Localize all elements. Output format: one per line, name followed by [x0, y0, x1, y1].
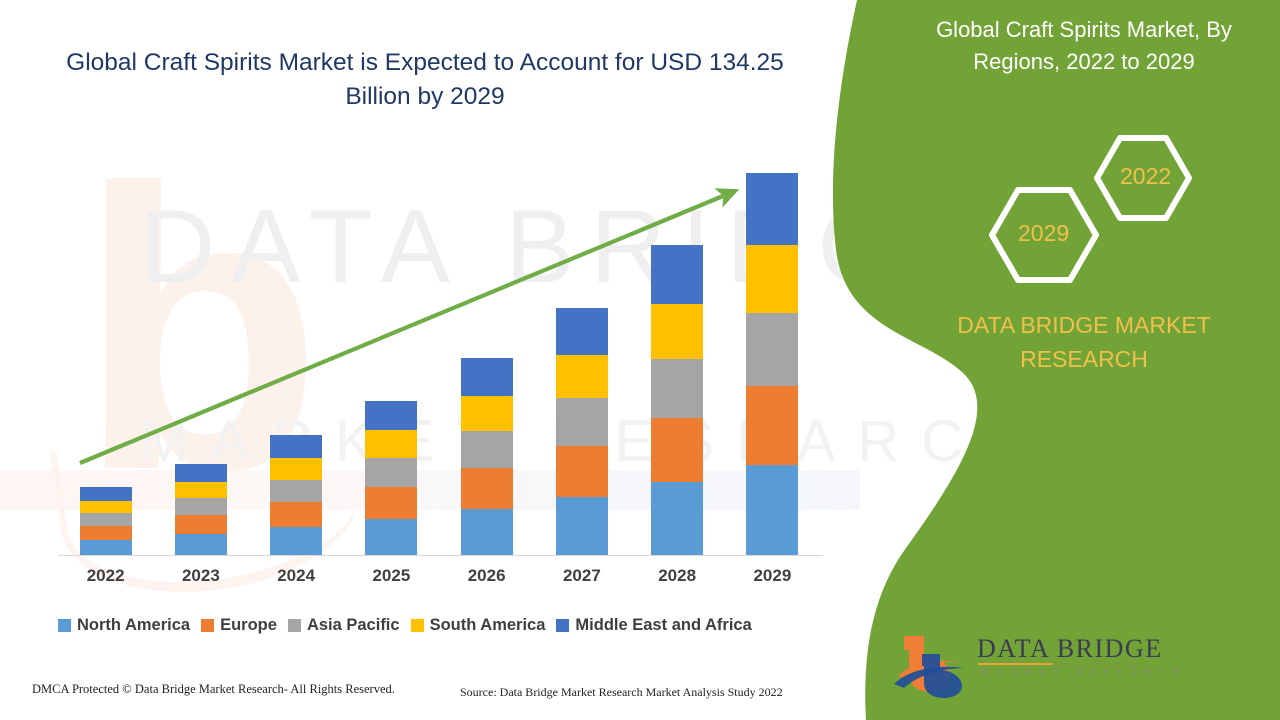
x-axis-tick-label: 2029: [724, 566, 820, 586]
bar-segment: [461, 431, 513, 469]
legend-swatch-icon: [58, 619, 71, 632]
bar-segment: [556, 308, 608, 355]
bar-segment: [365, 487, 417, 519]
bar-segment: [651, 304, 703, 359]
bar-segment: [270, 435, 322, 458]
bar-segment: [175, 464, 227, 481]
bar-segment: [270, 502, 322, 527]
bar-segment: [270, 527, 322, 556]
x-axis-tick-label: 2026: [439, 566, 535, 586]
hexagon-outline-icons: [970, 130, 1220, 295]
legend-swatch-icon: [288, 619, 301, 632]
bar-segment: [80, 501, 132, 513]
x-axis-tick-label: 2022: [58, 566, 154, 586]
bar-segment: [80, 487, 132, 500]
bar-segment: [270, 480, 322, 503]
bar-segment: [175, 515, 227, 534]
bar-segment: [556, 446, 608, 497]
x-axis-tick-label: 2023: [153, 566, 249, 586]
bar-segment: [80, 526, 132, 540]
bar-segment: [746, 465, 798, 556]
bar-segment: [461, 509, 513, 556]
bar-column: [80, 487, 132, 556]
bar-segment: [80, 513, 132, 526]
source-note: Source: Data Bridge Market Research Mark…: [460, 685, 783, 700]
bar-segment: [461, 396, 513, 431]
bar-segment: [461, 468, 513, 509]
legend-label: Asia Pacific: [307, 616, 400, 635]
legend-swatch-icon: [201, 619, 214, 632]
legend-swatch-icon: [411, 619, 424, 632]
dmca-notice: DMCA Protected © Data Bridge Market Rese…: [32, 682, 395, 697]
chart-legend: North AmericaEuropeAsia PacificSouth Ame…: [58, 616, 828, 635]
x-axis-tick-label: 2025: [343, 566, 439, 586]
legend-label: North America: [77, 616, 190, 635]
bar-segment: [365, 519, 417, 556]
legend-item[interactable]: Europe: [201, 616, 277, 635]
bar-column: [461, 358, 513, 556]
company-logo: DATA BRIDGE MARKET RESEARCH: [892, 630, 1152, 700]
legend-item[interactable]: Asia Pacific: [288, 616, 400, 635]
x-axis-line: [58, 555, 823, 556]
infographic-root: b DATA BRIDGE MARKET RESEARCH Global Cra…: [0, 0, 1280, 720]
chart-plot-area: [58, 150, 820, 556]
logo-company-name: DATA BRIDGE: [977, 634, 1163, 664]
bar-segment: [365, 458, 417, 487]
bar-segment: [746, 313, 798, 386]
bar-segment: [365, 401, 417, 430]
brand-name: DATA BRIDGE MARKET RESEARCH: [894, 308, 1274, 376]
legend-item[interactable]: North America: [58, 616, 190, 635]
footer: DMCA Protected © Data Bridge Market Rese…: [0, 682, 900, 712]
bar-column: [175, 464, 227, 556]
bar-column: [365, 401, 417, 556]
bar-segment: [556, 497, 608, 556]
bar-segment: [651, 418, 703, 482]
bar-segment: [746, 173, 798, 245]
bar-segment: [556, 355, 608, 399]
right-panel-title: Global Craft Spirits Market, By Regions,…: [894, 14, 1274, 78]
bar-segment: [651, 359, 703, 418]
legend-label: Europe: [220, 616, 277, 635]
bar-segment: [175, 534, 227, 556]
hexagon-badges: 2022 2029: [970, 130, 1220, 295]
logo-tagline: MARKET RESEARCH: [980, 667, 1187, 678]
legend-item[interactable]: Middle East and Africa: [556, 616, 751, 635]
bar-segment: [651, 482, 703, 556]
bar-segment: [80, 540, 132, 556]
bar-column: [746, 173, 798, 556]
x-axis-tick-label: 2027: [534, 566, 630, 586]
bar-segment: [175, 482, 227, 498]
legend-swatch-icon: [556, 619, 569, 632]
bar-segment: [746, 245, 798, 313]
hex-label-end-year: 2029: [1018, 220, 1069, 247]
legend-label: Middle East and Africa: [575, 616, 751, 635]
bar-segment: [746, 386, 798, 465]
bar-segment: [651, 245, 703, 304]
chart-title: Global Craft Spirits Market is Expected …: [60, 46, 790, 114]
green-panel-content: Global Craft Spirits Market, By Regions,…: [900, 0, 1280, 720]
bar-segment: [175, 498, 227, 515]
bar-column: [270, 435, 322, 556]
bar-column: [556, 308, 608, 556]
x-axis-labels: 20222023202420252026202720282029: [58, 566, 823, 596]
x-axis-tick-label: 2028: [629, 566, 725, 586]
legend-item[interactable]: South America: [411, 616, 546, 635]
bar-segment: [461, 358, 513, 395]
bar-column: [651, 245, 703, 556]
logo-mark-icon: [892, 630, 982, 698]
bar-segment: [270, 458, 322, 479]
hex-label-start-year: 2022: [1120, 163, 1171, 190]
logo-divider: [978, 663, 1143, 665]
bar-segment: [365, 430, 417, 457]
legend-label: South America: [430, 616, 546, 635]
x-axis-tick-label: 2024: [248, 566, 344, 586]
bar-segment: [556, 398, 608, 445]
chart-panel: Global Craft Spirits Market is Expected …: [0, 0, 900, 720]
